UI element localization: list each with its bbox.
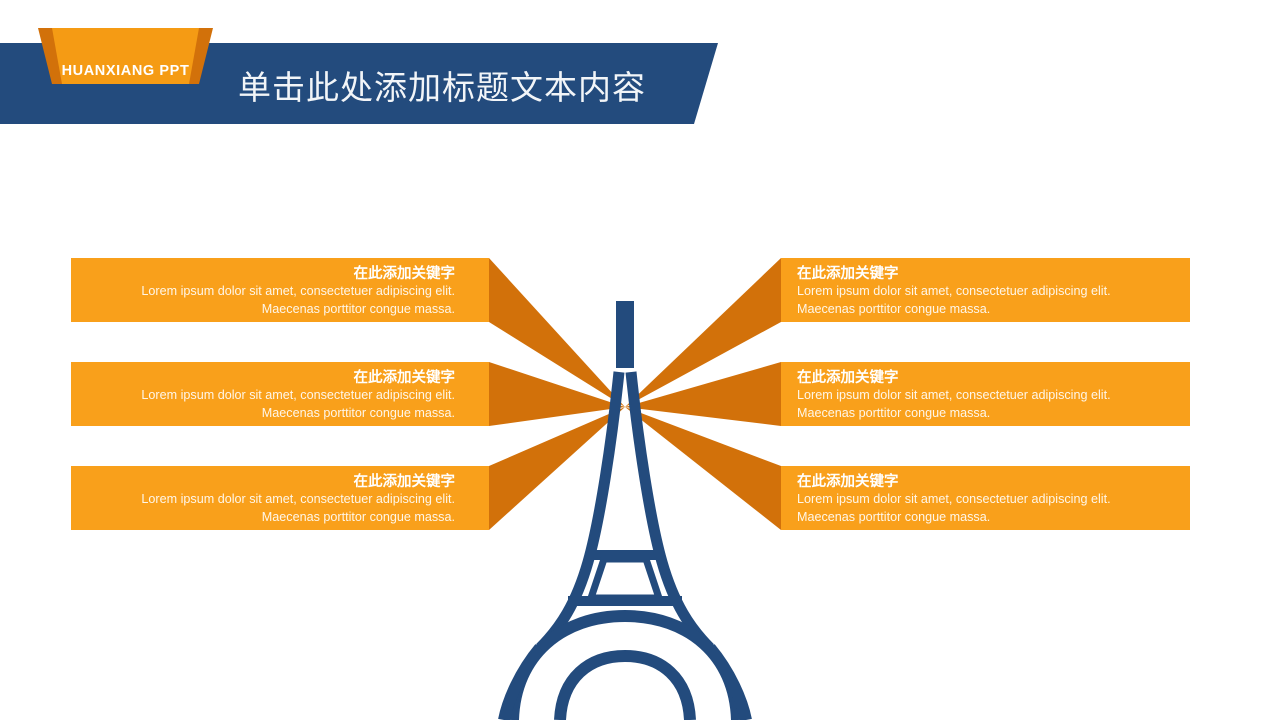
page-title: 单击此处添加标题文本内容 [238, 62, 658, 114]
card-keyword: 在此添加关键字 [71, 368, 489, 388]
card-keyword: 在此添加关键字 [781, 472, 1190, 492]
info-card-left-1[interactable]: 在此添加关键字 Lorem ipsum dolor sit amet, cons… [71, 258, 489, 322]
card-keyword: 在此添加关键字 [781, 264, 1190, 284]
card-body: Lorem ipsum dolor sit amet, consectetuer… [781, 491, 1190, 526]
presentation-slide: HUANXIANG PPT 单击此处添加标题文本内容 在此添加关键字 Lorem… [0, 0, 1280, 720]
card-body: Lorem ipsum dolor sit amet, consectetuer… [71, 283, 489, 318]
card-body: Lorem ipsum dolor sit amet, consectetuer… [781, 387, 1190, 422]
info-card-right-2[interactable]: 在此添加关键字 Lorem ipsum dolor sit amet, cons… [781, 362, 1190, 426]
logo-label: HUANXIANG PPT [38, 28, 213, 84]
card-keyword: 在此添加关键字 [781, 368, 1190, 388]
card-body: Lorem ipsum dolor sit amet, consectetuer… [71, 387, 489, 422]
card-keyword: 在此添加关键字 [71, 472, 489, 492]
card-body: Lorem ipsum dolor sit amet, consectetuer… [781, 283, 1190, 318]
info-card-left-2[interactable]: 在此添加关键字 Lorem ipsum dolor sit amet, cons… [71, 362, 489, 426]
info-card-right-3[interactable]: 在此添加关键字 Lorem ipsum dolor sit amet, cons… [781, 466, 1190, 530]
info-card-left-3[interactable]: 在此添加关键字 Lorem ipsum dolor sit amet, cons… [71, 466, 489, 530]
card-keyword: 在此添加关键字 [71, 264, 489, 284]
info-card-right-1[interactable]: 在此添加关键字 Lorem ipsum dolor sit amet, cons… [781, 258, 1190, 322]
card-body: Lorem ipsum dolor sit amet, consectetuer… [71, 491, 489, 526]
